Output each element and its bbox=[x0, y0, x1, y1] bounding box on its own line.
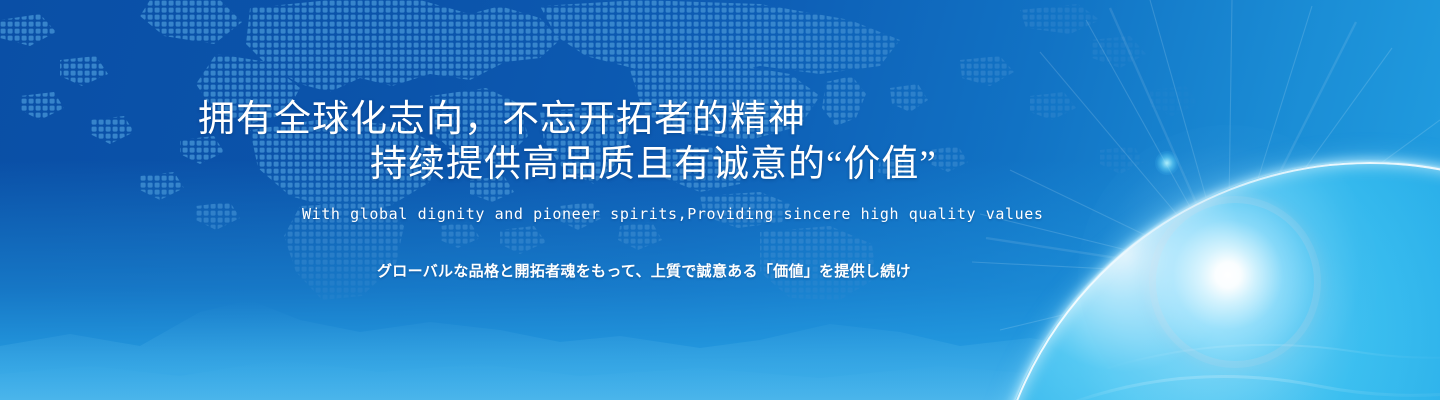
headline-line-1: 拥有全球化志向，不忘开拓者的精神 bbox=[198, 88, 806, 142]
hero-banner: 拥有全球化志向，不忘开拓者的精神 持续提供高品质且有诚意的“价值” With g… bbox=[0, 0, 1440, 400]
dotted-world-map bbox=[0, 0, 1260, 330]
planet-cloud-texture bbox=[988, 162, 1440, 400]
world-map-dots bbox=[0, 0, 1260, 330]
lens-flare-dot bbox=[1155, 151, 1179, 175]
subtitle-japanese: グローバルな品格と開拓者魂をもって、上質で誠意ある「価値」を提供し続け bbox=[377, 260, 911, 281]
planet-body bbox=[988, 162, 1440, 400]
planet-limb-highlight bbox=[988, 162, 1440, 400]
lens-flare-ring bbox=[1149, 196, 1321, 368]
planet-horizon bbox=[920, 70, 1440, 400]
light-rays bbox=[0, 0, 1440, 400]
mountain-silhouette bbox=[0, 250, 1440, 400]
subtitle-english: With global dignity and pioneer spirits,… bbox=[302, 205, 1044, 223]
banner-copy: 拥有全球化志向，不忘开拓者的精神 持续提供高品质且有诚意的“价值” With g… bbox=[0, 0, 1440, 400]
mountain-shape bbox=[0, 250, 1440, 400]
headline-line-2: 持续提供高品质且有诚意的“价值” bbox=[370, 133, 937, 187]
